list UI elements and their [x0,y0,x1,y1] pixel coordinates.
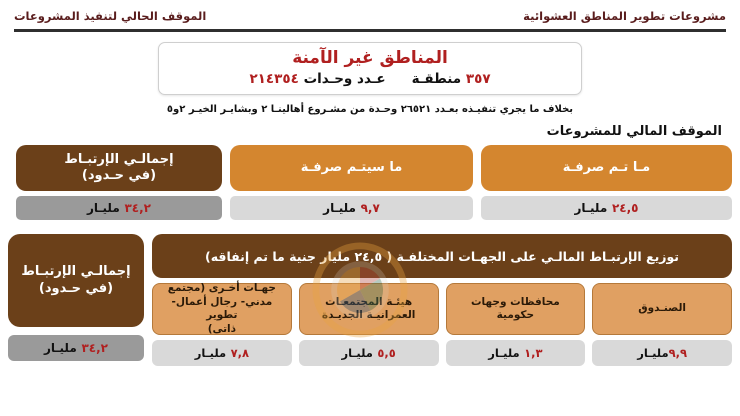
distribution-total-label-line2: (في حـدود) [39,281,113,296]
distribution-total-value: ٣٤,٢ مليـار [8,335,144,361]
category-other-line2: مدني- رجال أعمال- تطوير [172,296,273,322]
finance-total-unit: مليـار [87,201,120,215]
finance-card-tobespent-label: ما سيتـم صرفـة [230,145,473,191]
unsafe-areas-stats: ٣٥٧ منطقـة عـدد وحـدات ٢١٤٣٥٤ [169,71,571,87]
distribution-main: توزيع الإرتبـاط المالـي على الجهـات المخ… [152,234,732,366]
category-other-line3: ذاتى) [208,323,236,335]
category-fund: الصنـدوق [592,283,732,335]
finance-card-spent-label: مـا تـم صرفـة [481,145,732,191]
header-title-right: مشروعات تطوير المناطق العشوائية [523,9,726,23]
zones-label: منطقـة [412,71,462,87]
category-fund-value: ٩,٩مليـار [592,340,732,366]
category-other-unit: مليـار [195,346,226,360]
category-urban-value: ٥,٥ مليـار [299,340,439,366]
distribution-total-label-line1: إجمالـي الإرتبـاط [21,264,130,279]
category-governorates-line2: حكومية [497,309,534,321]
category-urban-line2: العمرانيـة الجديـدة [322,309,415,321]
finance-tobespent-number: ٩,٧ [361,201,380,215]
category-fund-number: ٩,٩ [669,346,687,360]
units-stat: عـدد وحـدات ٢١٤٣٥٤ [249,71,385,87]
zones-value: ٣٥٧ [466,71,491,87]
category-other-value: ٧,٨ مليـار [152,340,292,366]
category-new-urban-communities: هيئـة المجتمعـات العمرانيـة الجديـدة [299,283,439,335]
header-title-left: الموقف الحالي لتنفيذ المشروعات [14,9,206,23]
finance-total-label-line2: (في حـدود) [82,168,156,183]
zones-stat: ٣٥٧ منطقـة [412,71,491,87]
finance-spent-unit: مليـار [575,201,608,215]
category-governorates-unit: مليـار [488,346,519,360]
category-governorates: محافظات وجهات حكومية [446,283,586,335]
finance-card-total-label: إجمالـي الإرتبـاط (في حـدود) [16,145,222,191]
category-other-line1: جهـات أخـرى (مجتمع [168,282,276,294]
finance-card-total-value: ٣٤,٢ مليـار [16,196,222,220]
distribution-banner: توزيع الإرتبـاط المالـي على الجهـات المخ… [152,234,732,278]
footnote-text: بخلاف ما يجري تنفيـذه بعـدد ٢٦٥٢١ وحـدة … [0,104,740,115]
finance-total-label-line1: إجمالـي الإرتبـاط [64,152,173,167]
finance-total-number: ٣٤,٢ [124,201,151,215]
category-other-number: ٧,٨ [231,346,249,360]
category-urban-line1: هيئـة المجتمعـات [325,296,412,308]
units-value: ٢١٤٣٥٤ [249,71,298,87]
distribution-total-number: ٣٤,٢ [81,341,108,355]
header-divider [14,29,726,32]
finance-value-row: ٢٤,٥ مليـار ٩,٧ مليـار ٣٤,٢ مليـار [0,196,740,220]
category-governorates-value: ١,٣ مليـار [446,340,586,366]
title-card-wrapper: المناطق غير الآمنة ٣٥٧ منطقـة عـدد وحـدا… [0,42,740,95]
distribution-total-label: إجمالـي الإرتبـاط (في حـدود) [8,234,144,327]
finance-label-row: مـا تـم صرفـة ما سيتـم صرفـة إجمالـي الإ… [0,145,740,191]
category-governorates-line1: محافظات وجهات [471,296,560,308]
finance-card-spent-value: ٢٤,٥ مليـار [481,196,732,220]
unsafe-areas-title: المناطق غير الآمنة [169,48,571,69]
finance-card-tobespent-value: ٩,٧ مليـار [230,196,473,220]
category-urban-number: ٥,٥ [377,346,395,360]
page-header: مشروعات تطوير المناطق العشوائية الموقف ا… [0,0,740,32]
units-label: عـدد وحـدات [304,71,386,87]
distribution-value-row: ٩,٩مليـار ١,٣ مليـار ٥,٥ مليـار ٧,٨ مليـ… [152,340,732,366]
category-urban-unit: مليـار [342,346,373,360]
distribution-category-row: الصنـدوق محافظات وجهات حكومية هيئـة المج… [152,283,732,335]
distribution-block: توزيع الإرتبـاط المالـي على الجهـات المخ… [0,234,740,366]
finance-spent-number: ٢٤,٥ [612,201,639,215]
category-governorates-number: ١,٣ [524,346,542,360]
finance-tobespent-unit: مليـار [323,201,356,215]
category-other-entities: جهـات أخـرى (مجتمع مدني- رجال أعمال- تطو… [152,283,292,335]
distribution-total-unit: مليـار [44,341,77,355]
unsafe-areas-card: المناطق غير الآمنة ٣٥٧ منطقـة عـدد وحـدا… [158,42,582,95]
category-fund-unit: مليـار [637,346,668,360]
financial-section-heading: الموقف المالي للمشروعات [0,124,722,139]
distribution-total-column: إجمالـي الإرتبـاط (في حـدود) ٣٤,٢ مليـار [8,234,144,366]
